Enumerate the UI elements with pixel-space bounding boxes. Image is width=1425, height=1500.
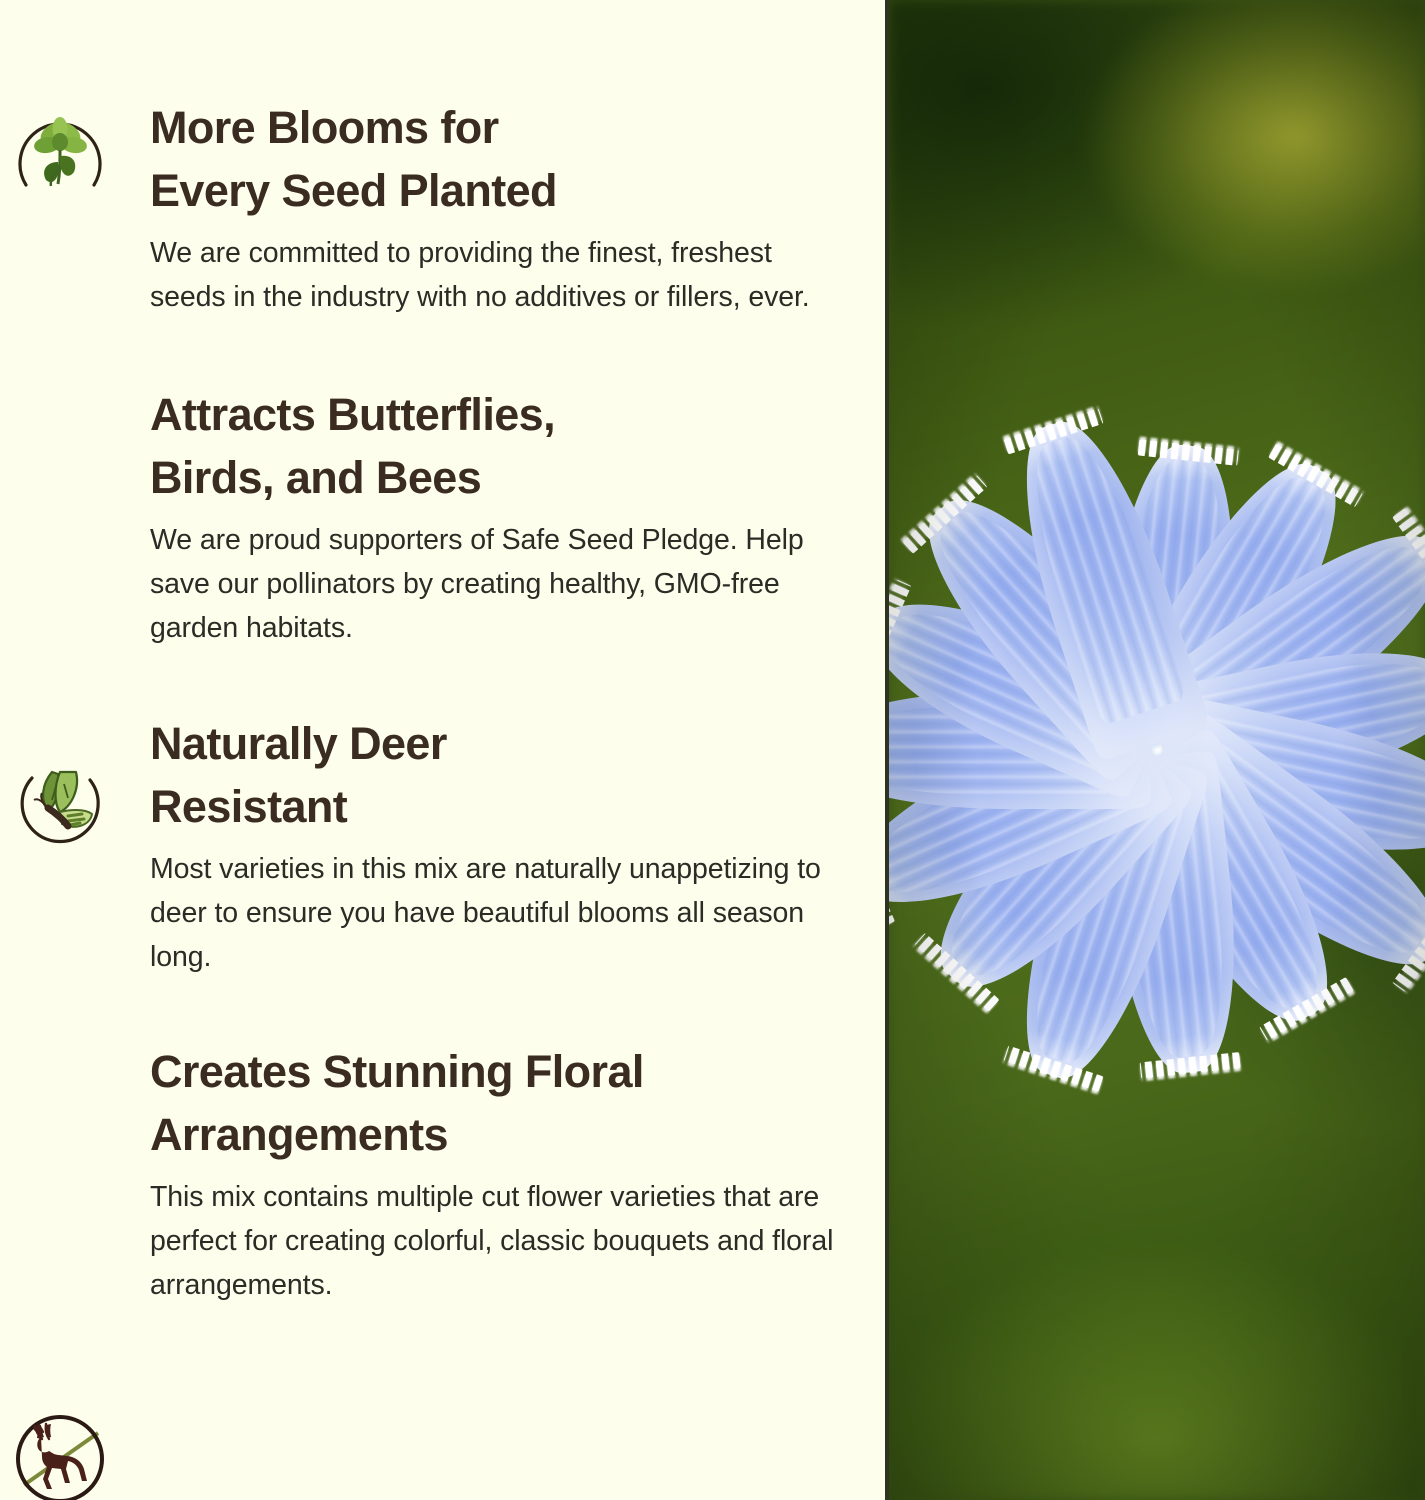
feature-item: Attracts Butterflies, Birds, and Bees We… (0, 320, 885, 651)
feature-title: Attracts Butterflies, Birds, and Bees (150, 383, 845, 509)
photo-vignette (889, 0, 1425, 1500)
feature-item: Creates Stunning Floral Arrangements Thi… (0, 980, 885, 1308)
feature-item: Naturally Deer Resistant Most varieties … (0, 650, 885, 980)
flower-in-circle-icon (8, 100, 112, 204)
feature-body: We are proud supporters of Safe Seed Ple… (150, 519, 845, 651)
feature-title: More Blooms for Every Seed Planted (150, 96, 845, 222)
feature-body: We are committed to providing the finest… (150, 232, 845, 320)
no-deer-icon (8, 1407, 112, 1500)
chicory-flower-photo (889, 0, 1425, 1500)
feature-title: Creates Stunning Floral Arrangements (150, 1040, 845, 1166)
product-feature-page: More Blooms for Every Seed Planted We ar… (0, 0, 1425, 1500)
feature-body: This mix contains multiple cut flower va… (150, 1176, 845, 1308)
feature-body: Most varieties in this mix are naturally… (150, 848, 845, 980)
features-panel: More Blooms for Every Seed Planted We ar… (0, 0, 885, 1500)
feature-title: Naturally Deer Resistant (150, 712, 845, 838)
feature-item: More Blooms for Every Seed Planted We ar… (0, 0, 885, 320)
